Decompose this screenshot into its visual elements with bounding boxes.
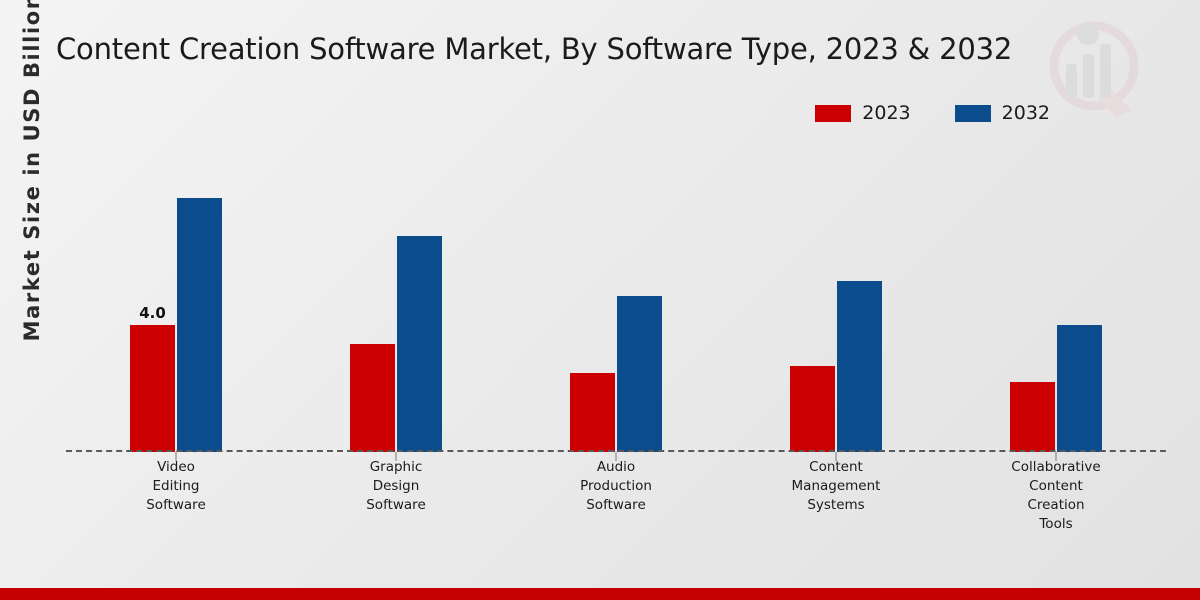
y-axis-label: Market Size in USD Billion — [20, 0, 44, 367]
chart-title: Content Creation Software Market, By Sof… — [56, 32, 1012, 66]
plot-area: 4.0 — [66, 160, 1166, 452]
category-label-line: Software — [66, 496, 286, 515]
legend-swatch-2023 — [815, 105, 851, 122]
bar-2032[interactable] — [397, 236, 442, 452]
category-label-line: Software — [286, 496, 506, 515]
category-label-line: Production — [506, 477, 726, 496]
legend-label-2023: 2023 — [862, 102, 910, 124]
bar-pair: 4.0 — [130, 160, 222, 452]
chart-legend: 2023 2032 — [815, 102, 1050, 124]
bar-group — [506, 160, 726, 452]
bar-2023[interactable]: 4.0 — [130, 325, 175, 452]
category-label-line: Graphic — [286, 458, 506, 477]
bar-pair — [1010, 160, 1102, 452]
category-label-line: Content — [946, 477, 1166, 496]
legend-item-2032[interactable]: 2032 — [955, 102, 1050, 124]
bar-2032[interactable] — [177, 198, 222, 452]
bar-pair — [790, 160, 882, 452]
x-axis-category-label: GraphicDesignSoftware — [286, 458, 506, 534]
x-axis-baseline — [66, 450, 1166, 452]
category-label-line: Video — [66, 458, 286, 477]
category-label-line: Collaborative — [946, 458, 1166, 477]
category-label-line: Tools — [946, 515, 1166, 534]
bar-2023[interactable] — [790, 366, 835, 452]
category-label-line: Content — [726, 458, 946, 477]
category-label-line: Management — [726, 477, 946, 496]
bar-value-label: 4.0 — [139, 304, 166, 322]
x-axis-category-label: AudioProductionSoftware — [506, 458, 726, 534]
category-label-line: Audio — [506, 458, 726, 477]
footer-accent-bar — [0, 588, 1200, 600]
category-label-line: Systems — [726, 496, 946, 515]
legend-item-2023[interactable]: 2023 — [815, 102, 910, 124]
x-axis-category-label: CollaborativeContentCreationTools — [946, 458, 1166, 534]
bar-2023[interactable] — [1010, 382, 1055, 452]
chart-figure: Content Creation Software Market, By Sof… — [0, 0, 1200, 600]
bar-2023[interactable] — [570, 373, 615, 452]
x-axis-category-label: ContentManagementSystems — [726, 458, 946, 534]
bar-pair — [570, 160, 662, 452]
legend-swatch-2032 — [955, 105, 991, 122]
bar-2032[interactable] — [617, 296, 662, 452]
bar-pair — [350, 160, 442, 452]
bar-2023[interactable] — [350, 344, 395, 452]
watermark-logo-icon — [1050, 10, 1142, 118]
bar-group — [946, 160, 1166, 452]
bar-group — [726, 160, 946, 452]
bar-2032[interactable] — [1057, 325, 1102, 452]
category-label-line: Design — [286, 477, 506, 496]
bar-group — [286, 160, 506, 452]
category-label-line: Creation — [946, 496, 1166, 515]
bar-groups: 4.0 — [66, 160, 1166, 452]
legend-label-2032: 2032 — [1002, 102, 1050, 124]
bar-group: 4.0 — [66, 160, 286, 452]
bar-2032[interactable] — [837, 281, 882, 452]
category-label-line: Editing — [66, 477, 286, 496]
x-axis-categories: VideoEditingSoftwareGraphicDesignSoftwar… — [66, 458, 1166, 534]
category-label-line: Software — [506, 496, 726, 515]
x-axis-category-label: VideoEditingSoftware — [66, 458, 286, 534]
